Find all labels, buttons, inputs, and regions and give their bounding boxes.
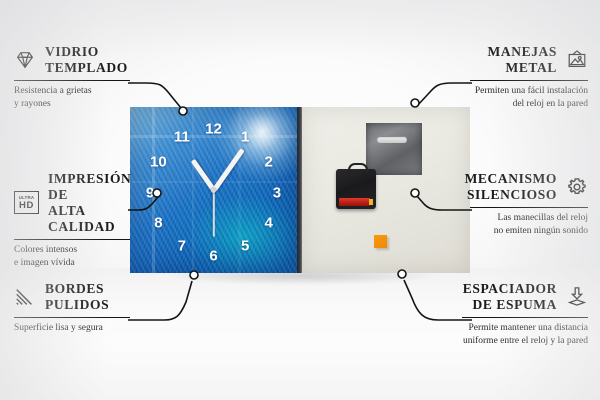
callout-subtitle: Resistencia a grietas y rayones	[14, 85, 130, 111]
callout-title: BORDES PULIDOS	[45, 281, 109, 313]
foam-spacer	[374, 235, 387, 248]
ultra-hd-large-label: HD	[19, 201, 34, 211]
callout-mecanismo-silencioso[interactable]: MECANISMO SILENCIOSO Las manecillas del …	[470, 171, 588, 238]
metal-hanger-plate	[366, 123, 422, 175]
infographic-stage: 12 1 2 3 4 5 6 7 8 9 10 11	[0, 0, 600, 400]
clock-front-face: 12 1 2 3 4 5 6 7 8 9 10 11	[130, 107, 297, 273]
callout-heading: MANEJAS METAL	[470, 44, 588, 76]
hanger-slot	[377, 136, 407, 143]
clock-back-panel	[302, 107, 470, 273]
callout-subtitle: Permite mantener una distancia uniforme …	[462, 322, 588, 348]
clock-numeral-6: 6	[209, 249, 217, 264]
callout-heading: BORDES PULIDOS	[14, 281, 130, 313]
callout-title: IMPRESIÓN DE ALTA CALIDAD	[48, 171, 131, 235]
clock-center-pin	[211, 188, 216, 193]
callout-rule	[14, 80, 130, 81]
callout-subtitle: Las manecillas del reloj no emiten ningú…	[470, 212, 588, 238]
callout-rule	[14, 317, 130, 318]
gear-icon	[566, 176, 588, 198]
diagonal-lines-icon	[14, 286, 36, 308]
callout-rule	[462, 317, 588, 318]
callout-subtitle: Permiten una fácil instalación del reloj…	[470, 85, 588, 111]
callout-subtitle: Superficie lisa y segura	[14, 322, 130, 335]
battery-terminal	[369, 199, 373, 205]
clock-second-hand	[213, 190, 215, 237]
callout-manejas-metal[interactable]: MANEJAS METAL Permiten una fácil instala…	[470, 44, 588, 111]
clock-numeral-7: 7	[178, 239, 186, 254]
clock-numeral-1: 1	[241, 129, 249, 144]
callout-espaciador-de-espuma[interactable]: ESPACIADOR DE ESPUMA Permite mantener un…	[462, 281, 588, 348]
clock-numeral-12: 12	[205, 121, 222, 136]
callout-subtitle: Colores intensos e imagen vívida	[14, 244, 130, 270]
clock-numeral-4: 4	[264, 216, 272, 231]
callout-heading: VIDRIO TEMPLADO	[14, 44, 130, 76]
clock-numeral-5: 5	[241, 239, 249, 254]
callout-impresion-alta-calidad[interactable]: ultra HD IMPRESIÓN DE ALTA CALIDAD Color…	[14, 171, 130, 270]
clock-numeral-2: 2	[264, 154, 272, 169]
callout-vidrio-templado[interactable]: VIDRIO TEMPLADO Resistencia a grietas y …	[14, 44, 130, 111]
callout-heading: ultra HD IMPRESIÓN DE ALTA CALIDAD	[14, 171, 130, 235]
callout-title: VIDRIO TEMPLADO	[45, 44, 128, 76]
arrow-onto-layers-icon	[566, 286, 588, 308]
callout-rule	[470, 207, 588, 208]
callout-bordes-pulidos[interactable]: BORDES PULIDOS Superficie lisa y segura	[14, 281, 130, 335]
callout-title: ESPACIADOR DE ESPUMA	[463, 281, 557, 313]
diamond-icon	[14, 49, 36, 71]
quartz-mechanism-box	[336, 169, 376, 209]
callout-heading: ESPACIADOR DE ESPUMA	[462, 281, 588, 313]
clock-numeral-8: 8	[154, 216, 162, 231]
callout-rule	[14, 239, 130, 240]
callout-rule	[470, 80, 588, 81]
clock-numeral-11: 11	[174, 129, 190, 144]
clock-numeral-9: 9	[146, 186, 154, 201]
callout-heading: MECANISMO SILENCIOSO	[470, 171, 588, 203]
mechanism-hanger-loop	[348, 163, 368, 174]
callout-title: MECANISMO SILENCIOSO	[465, 171, 557, 203]
clock-hour-hand	[190, 158, 215, 191]
ultra-hd-icon: ultra HD	[14, 191, 39, 214]
clock-numeral-10: 10	[150, 154, 167, 169]
hanging-frame-icon	[566, 49, 588, 71]
battery	[339, 198, 370, 206]
product-image: 12 1 2 3 4 5 6 7 8 9 10 11	[130, 107, 470, 273]
clock-numeral-3: 3	[273, 186, 281, 201]
callout-title: MANEJAS METAL	[488, 44, 557, 76]
